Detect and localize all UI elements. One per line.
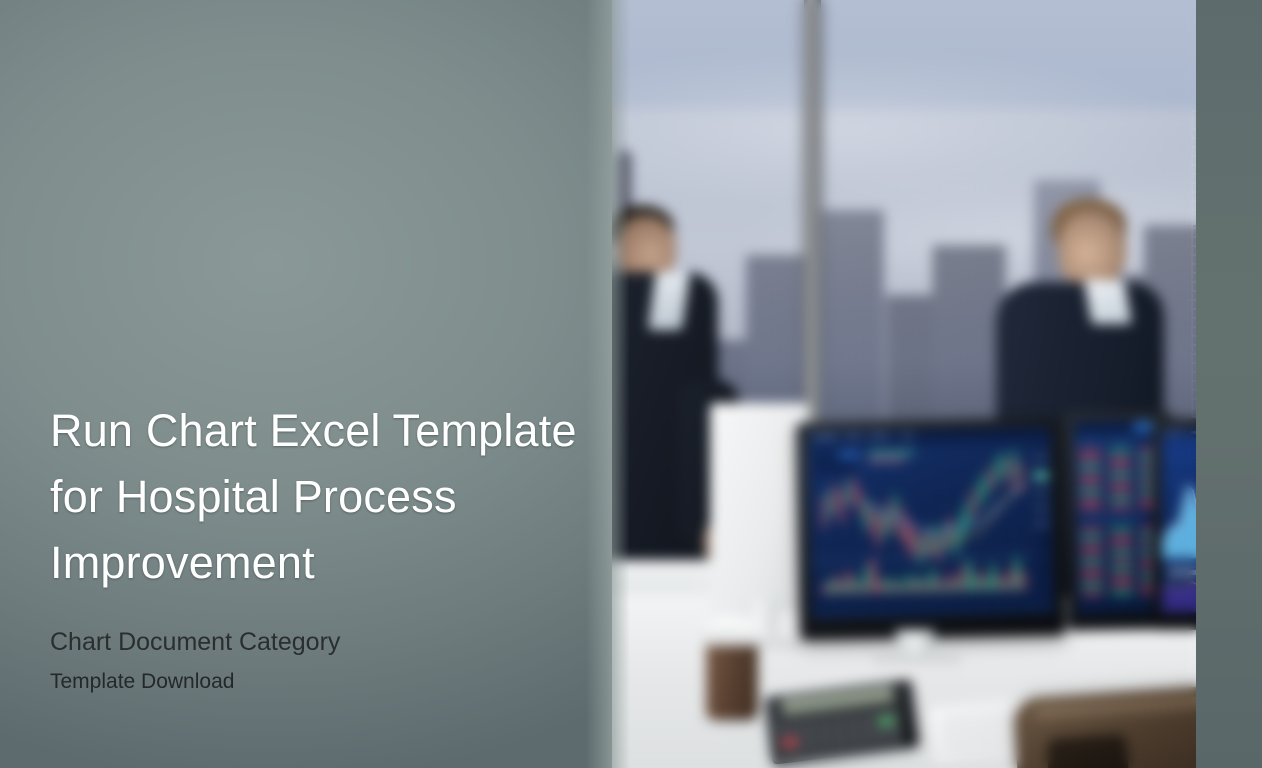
left-panel: Run Chart Excel Template for Hospital Pr… <box>0 0 612 768</box>
page-title: Run Chart Excel Template for Hospital Pr… <box>50 398 590 596</box>
category-label: Chart Document Category <box>50 626 590 658</box>
coffee-cup-lid-top <box>710 619 754 633</box>
imac-monitor <box>710 403 808 613</box>
leather-chair-shadow <box>1046 733 1130 768</box>
area-chart-monitor-screen <box>1162 428 1200 612</box>
calculator-equals-key <box>877 715 895 727</box>
hero-photo <box>596 0 1200 768</box>
calculator-clear-key <box>782 737 799 748</box>
title-block: Run Chart Excel Template for Hospital Pr… <box>50 398 590 696</box>
coffee-cup-body <box>706 640 758 720</box>
businessman-background-head <box>1058 210 1126 288</box>
download-label: Template Download <box>50 668 590 696</box>
businessman-background-collar <box>1084 280 1132 324</box>
right-edge-strip <box>1196 0 1262 768</box>
trading-monitor-screen <box>808 427 1054 618</box>
area-chart <box>1162 428 1200 612</box>
candlestick-chart <box>808 427 1054 618</box>
title-slide: Run Chart Excel Template for Hospital Pr… <box>0 0 1262 768</box>
trading-monitor-foot <box>872 652 962 662</box>
